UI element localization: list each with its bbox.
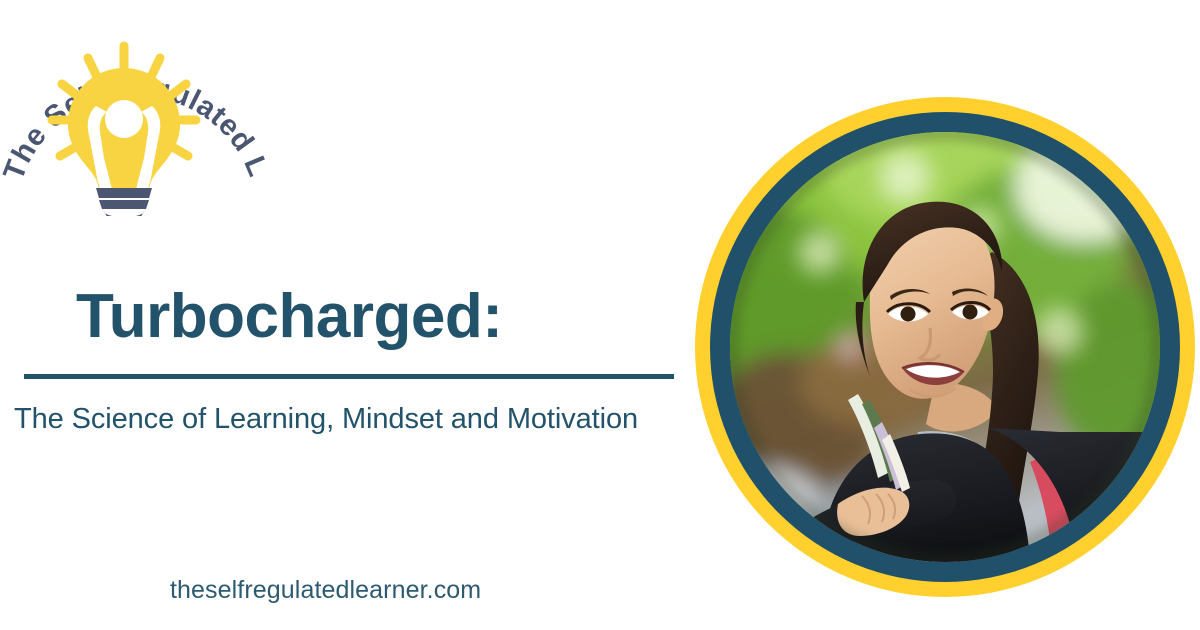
promo-banner: The Self-Regulated Learner — [0, 0, 1200, 630]
photo-inner-ring — [710, 112, 1180, 582]
lightbulb-base-icon — [96, 188, 152, 216]
photo-outer-ring — [695, 97, 1195, 597]
logo-svg: The Self-Regulated Learner — [0, 2, 286, 216]
page-subtitle: The Science of Learning, Mindset and Mot… — [14, 402, 638, 437]
page-title: Turbocharged: — [76, 286, 502, 348]
title-divider — [24, 374, 674, 379]
site-url-label[interactable]: theselfregulatedlearner.com — [170, 576, 481, 605]
student-photo — [730, 132, 1160, 562]
student-photo-art — [730, 132, 1160, 562]
brand-logo[interactable]: The Self-Regulated Learner — [0, 2, 286, 216]
